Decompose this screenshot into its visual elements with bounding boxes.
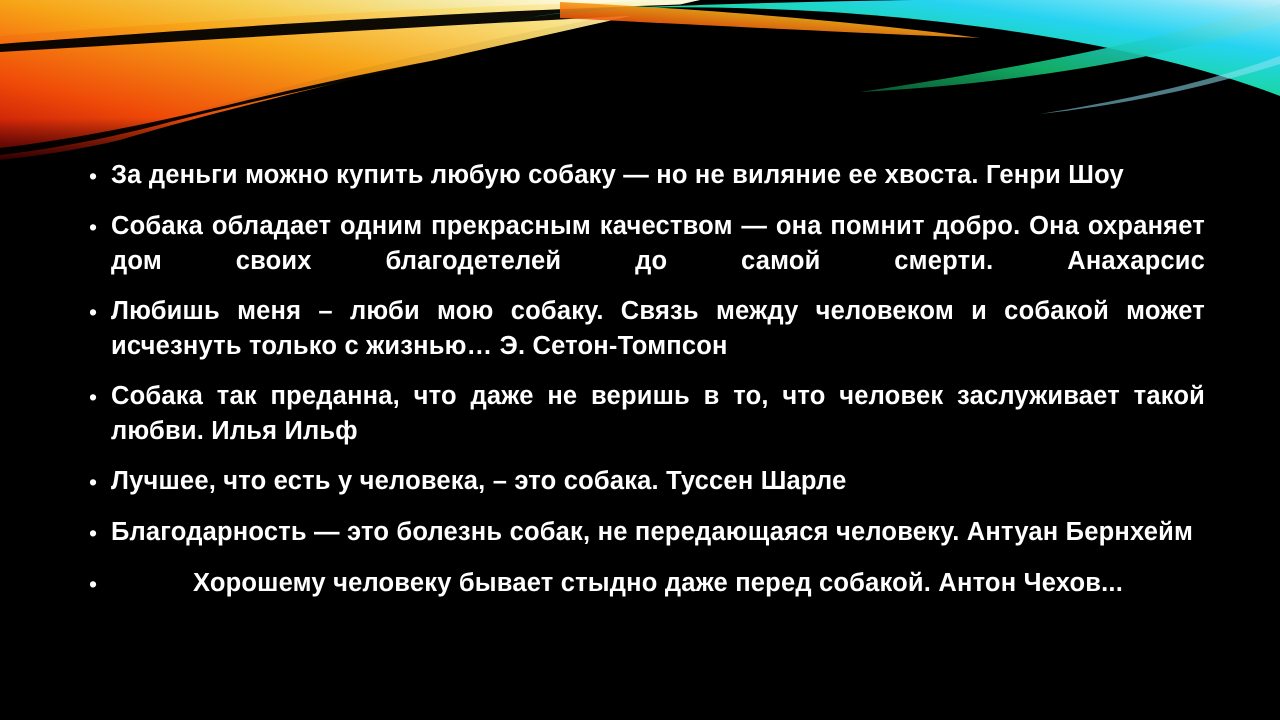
quote-anacharsis: Собака обладает одним прекрасным качеств… [111,209,1205,279]
quote-antoine-bernheim: Благодарность — это болезнь собак, не пе… [111,515,1205,550]
ribbon-graphic [0,0,1280,175]
list-item: • Собака обладает одним прекрасным качес… [85,209,1205,279]
warm-split-curve [0,2,800,155]
list-item: • Хорошему человеку бывает стыдно даже п… [85,566,1205,602]
list-item: • За деньги можно купить любую собаку — … [85,158,1205,194]
colorful-ribbon-banner [0,0,1280,175]
bullet-point-icon: • [85,294,111,330]
green-wisp [470,8,620,28]
bullet-point-icon: • [85,464,111,500]
cool-sweep-lower [860,4,1280,92]
quote-seton-thompson: Любишь меня – люби мою собаку. Связь меж… [111,294,1205,364]
list-item: • Благодарность — это болезнь собак, не … [85,515,1205,551]
bullet-point-icon: • [85,379,111,415]
bullet-list: • За деньги можно купить любую собаку — … [85,158,1205,602]
presentation-slide: • За деньги можно купить любую собаку — … [0,0,1280,720]
quote-toussaint-charlet: Лучшее, что есть у человека, – это собак… [111,464,1205,499]
bullet-point-icon: • [85,566,111,602]
bullet-point-icon: • [85,158,111,194]
cool-sweep-upper [620,0,1280,96]
list-item: • Лучшее, что есть у человека, – это соб… [85,464,1205,500]
quote-anton-chekhov: Хорошему человеку бывает стыдно даже пер… [111,566,1205,601]
warm-sweep-lower [0,0,700,160]
quote-ilya-ilf: Собака так преданна, что даже не веришь … [111,379,1205,449]
list-item: • Любишь меня – люби мою собаку. Связь м… [85,294,1205,364]
cool-highlight-streak [1040,56,1280,114]
bullet-point-icon: • [85,209,111,245]
list-item: • Собака так преданна, что даже не вериш… [85,379,1205,449]
quote-henry-shaw: За деньги можно купить любую собаку — но… [111,158,1205,193]
warm-tail [560,2,980,38]
warm-sweep-upper [0,0,700,158]
bullet-point-icon: • [85,515,111,551]
